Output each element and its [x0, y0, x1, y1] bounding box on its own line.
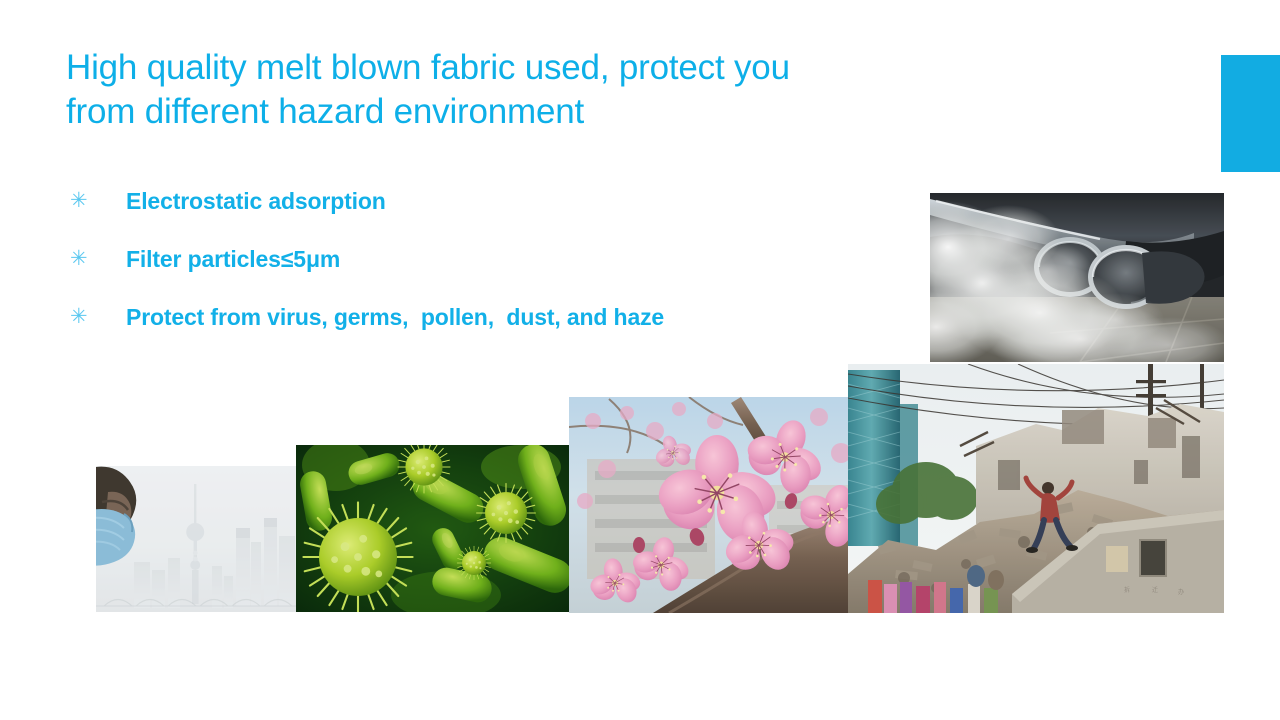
asterisk-icon: ✳ [66, 244, 126, 274]
image-dust-demolition: 拆迁办 [848, 364, 1224, 613]
page-title: High quality melt blown fabric used, pro… [66, 46, 996, 134]
list-item-label: Electrostatic adsorption [126, 186, 386, 216]
list-item: ✳ Filter particles≤5μm [66, 244, 886, 302]
list-item-label: Protect from virus, germs, pollen, dust,… [126, 302, 664, 332]
slide-canvas: High quality melt blown fabric used, pro… [0, 0, 1280, 720]
asterisk-icon: ✳ [66, 186, 126, 216]
list-item-label: Filter particles≤5μm [126, 244, 340, 274]
image-pollen-blossom: 昵图网 www.nipic.com BY:75946607 [569, 397, 851, 613]
list-item: ✳ Electrostatic adsorption [66, 186, 886, 244]
image-smog-city-mask [96, 466, 297, 612]
accent-block-decoration [1221, 55, 1280, 172]
asterisk-icon: ✳ [66, 302, 126, 332]
image-germs-bacteria [296, 445, 573, 612]
list-item: ✳ Protect from virus, germs, pollen, dus… [66, 302, 886, 360]
image-exhaust-smoke [930, 193, 1224, 362]
bullet-list: ✳ Electrostatic adsorption ✳ Filter part… [66, 186, 886, 360]
